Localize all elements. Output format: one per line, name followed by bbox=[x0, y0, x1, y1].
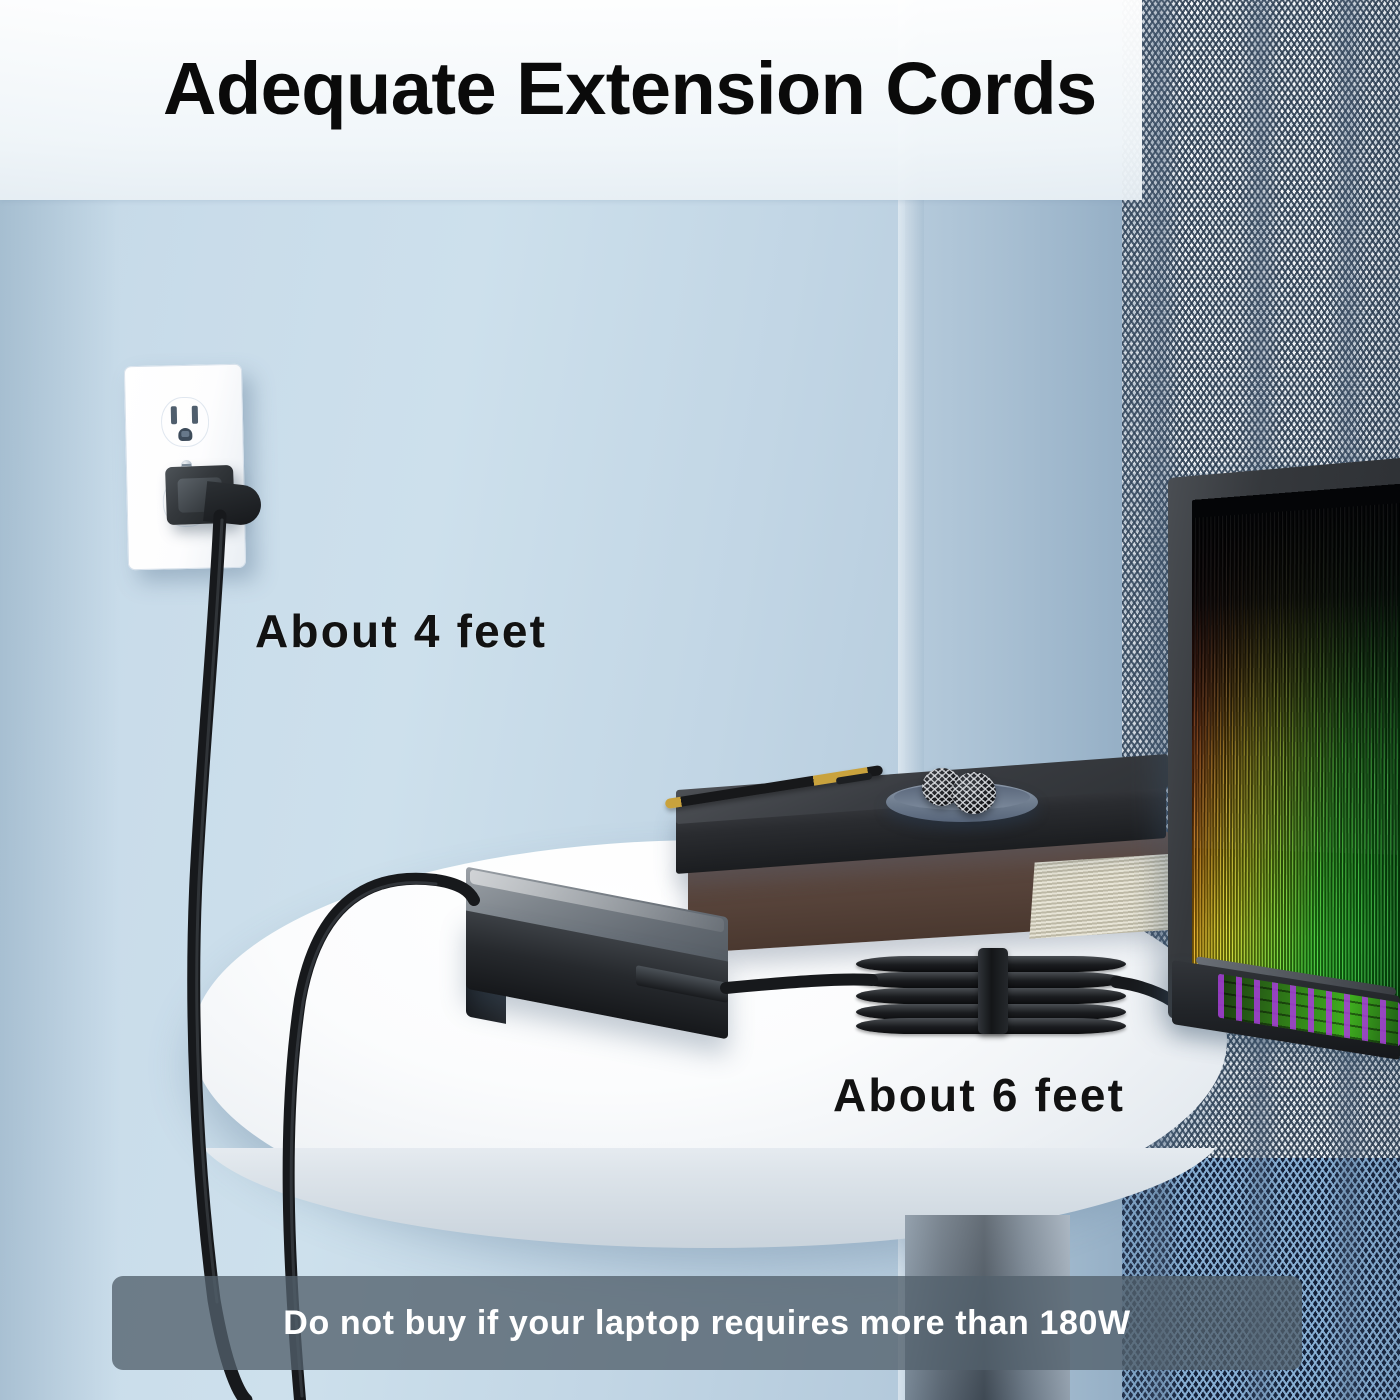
annotation-label-6-feet: About 6 feet bbox=[833, 1068, 1125, 1122]
coiled-cable bbox=[856, 952, 1126, 1036]
outlet-slot-left bbox=[171, 406, 177, 424]
laptop-screen bbox=[1192, 483, 1400, 1004]
book-page-block bbox=[1029, 853, 1182, 939]
screen-visualizer-spikes bbox=[1192, 502, 1400, 855]
warning-caption-text: Do not buy if your laptop requires more … bbox=[283, 1304, 1130, 1343]
decorative-sphere bbox=[952, 772, 996, 814]
wall-left-shadow bbox=[0, 0, 120, 1400]
annotation-label-4-feet: About 4 feet bbox=[255, 604, 547, 658]
cable-velcro-strap bbox=[978, 948, 1008, 1034]
warning-caption-bar: Do not buy if your laptop requires more … bbox=[112, 1276, 1302, 1370]
product-marketing-image: About 4 feet About 6 feet Adequate Exten… bbox=[0, 0, 1400, 1400]
outlet-slot-right bbox=[192, 406, 198, 424]
outlet-socket-upper bbox=[161, 396, 210, 447]
outlet-ground-pin bbox=[178, 428, 192, 441]
page-title: Adequate Extension Cords bbox=[163, 46, 1097, 131]
title-banner: Adequate Extension Cords bbox=[0, 0, 1142, 200]
